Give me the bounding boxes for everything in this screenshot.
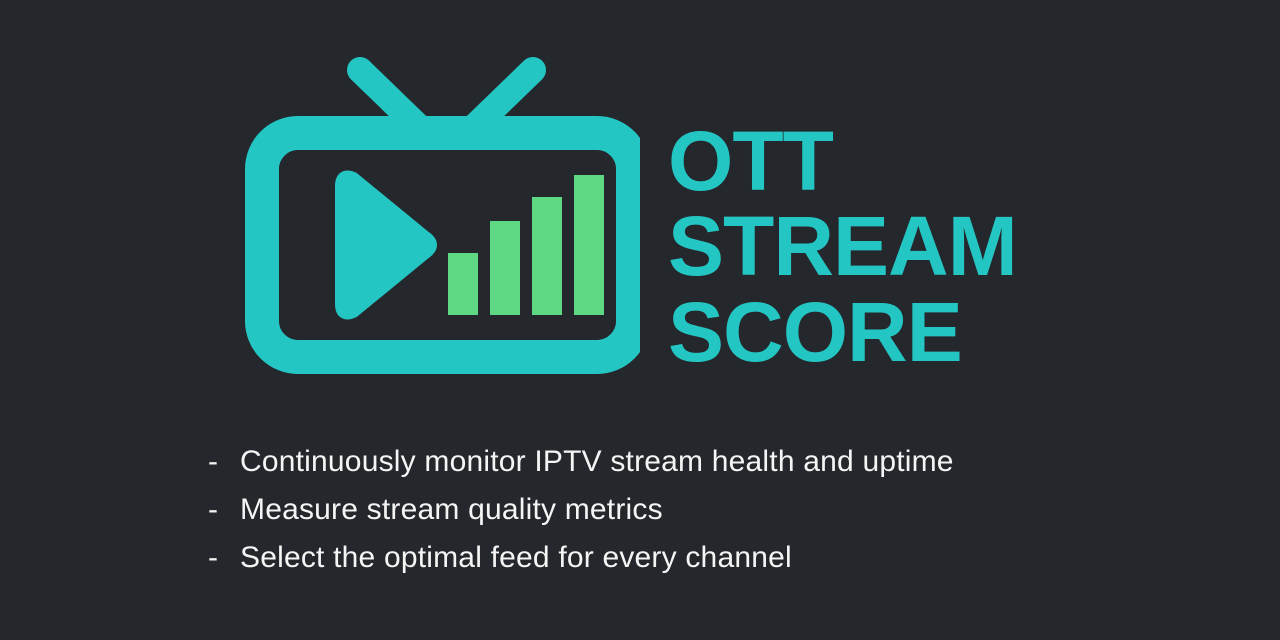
bullet-marker: - [208,443,240,481]
tv-screen [279,150,616,340]
bullet-marker: - [208,539,240,577]
bullet-marker: - [208,491,240,529]
list-item-label: Select the optimal feed for every channe… [240,539,792,577]
bar-3 [532,197,562,315]
wordmark-line-2: STREAM [668,203,1048,289]
list-item-label: Continuously monitor IPTV stream health … [240,443,954,481]
bar-2 [490,221,520,315]
tv-bar-chart-play-icon [240,55,640,385]
bar-4 [574,175,604,315]
logo-wordmark: OTT STREAM SCORE [668,119,1048,375]
slide-canvas: OTT STREAM SCORE - Continuously monitor … [0,0,1280,640]
bar-1 [448,253,478,315]
wordmark-line-1: OTT [668,119,1048,203]
list-item: - Continuously monitor IPTV stream healt… [208,443,1208,491]
list-item-label: Measure stream quality metrics [240,491,663,529]
wordmark-line-3: SCORE [668,289,1048,375]
list-item: - Select the optimal feed for every chan… [208,539,1208,587]
list-item: - Measure stream quality metrics [208,491,1208,539]
logo-block: OTT STREAM SCORE [240,55,1040,385]
feature-bullet-list: - Continuously monitor IPTV stream healt… [208,443,1208,587]
